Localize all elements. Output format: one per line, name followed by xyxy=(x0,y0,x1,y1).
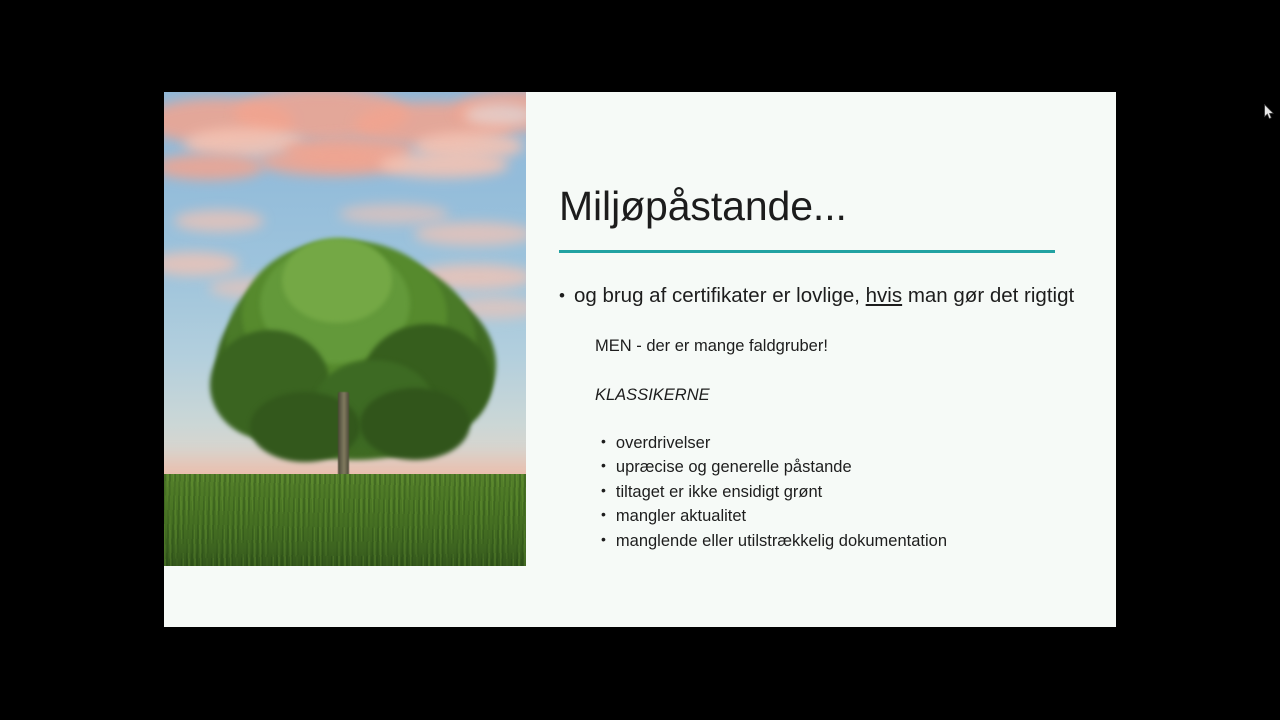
bullet-glyph: • xyxy=(601,532,606,546)
list-item-label: tiltaget er ikke ensidigt grønt xyxy=(616,480,822,504)
slide-body: Miljøpåstande... • og brug af certifikat… xyxy=(559,92,1116,627)
slide-footer: 01-06-2021 DANSK ERHVERV Digital Handel … xyxy=(164,558,1116,627)
slide-title: Miljøpåstande... xyxy=(559,185,847,228)
bullet-glyph: • xyxy=(601,458,606,472)
grass-field xyxy=(164,474,526,566)
bullet-glyph: • xyxy=(601,434,606,448)
presentation-slide: Miljøpåstande... • og brug af certifikat… xyxy=(164,92,1116,627)
main-bullet-text: og brug af certifikater er lovlige, hvis… xyxy=(574,283,1074,309)
sub-bullet-list: • overdrivelser • upræcise og generelle … xyxy=(601,431,947,553)
list-item: • overdrivelser xyxy=(601,431,947,455)
bullet-glyph: • xyxy=(601,483,606,497)
mouse-cursor-icon xyxy=(1264,104,1275,120)
tree-photo xyxy=(164,92,526,566)
tree-canopy xyxy=(360,388,470,460)
bullet-glyph: • xyxy=(559,287,565,304)
list-item-label: upræcise og generelle påstande xyxy=(616,455,852,479)
main-bullet-emphasis: hvis xyxy=(866,284,902,307)
title-underline-rule xyxy=(559,250,1055,253)
list-item-label: mangler aktualitet xyxy=(616,504,746,528)
bullet-glyph: • xyxy=(601,507,606,521)
main-bullet-suffix: man gør det rigtigt xyxy=(902,284,1074,307)
main-bullet-prefix: og brug af certifikater er lovlige, xyxy=(574,284,866,307)
list-item: • manglende eller utilstrækkelig dokumen… xyxy=(601,529,947,553)
list-item-label: manglende eller utilstrækkelig dokumenta… xyxy=(616,529,947,553)
men-statement: MEN - der er mange faldgruber! xyxy=(595,337,828,356)
screen: Miljøpåstande... • og brug af certifikat… xyxy=(0,0,1280,720)
tree-trunk xyxy=(338,392,349,478)
klassikerne-heading: KLASSIKERNE xyxy=(595,386,710,405)
list-item: • upræcise og generelle påstande xyxy=(601,455,947,479)
list-item-label: overdrivelser xyxy=(616,431,710,455)
list-item: • mangler aktualitet xyxy=(601,504,947,528)
list-item: • tiltaget er ikke ensidigt grønt xyxy=(601,480,947,504)
main-bullet: • og brug af certifikater er lovlige, hv… xyxy=(559,283,1074,309)
tree-canopy xyxy=(282,238,392,323)
